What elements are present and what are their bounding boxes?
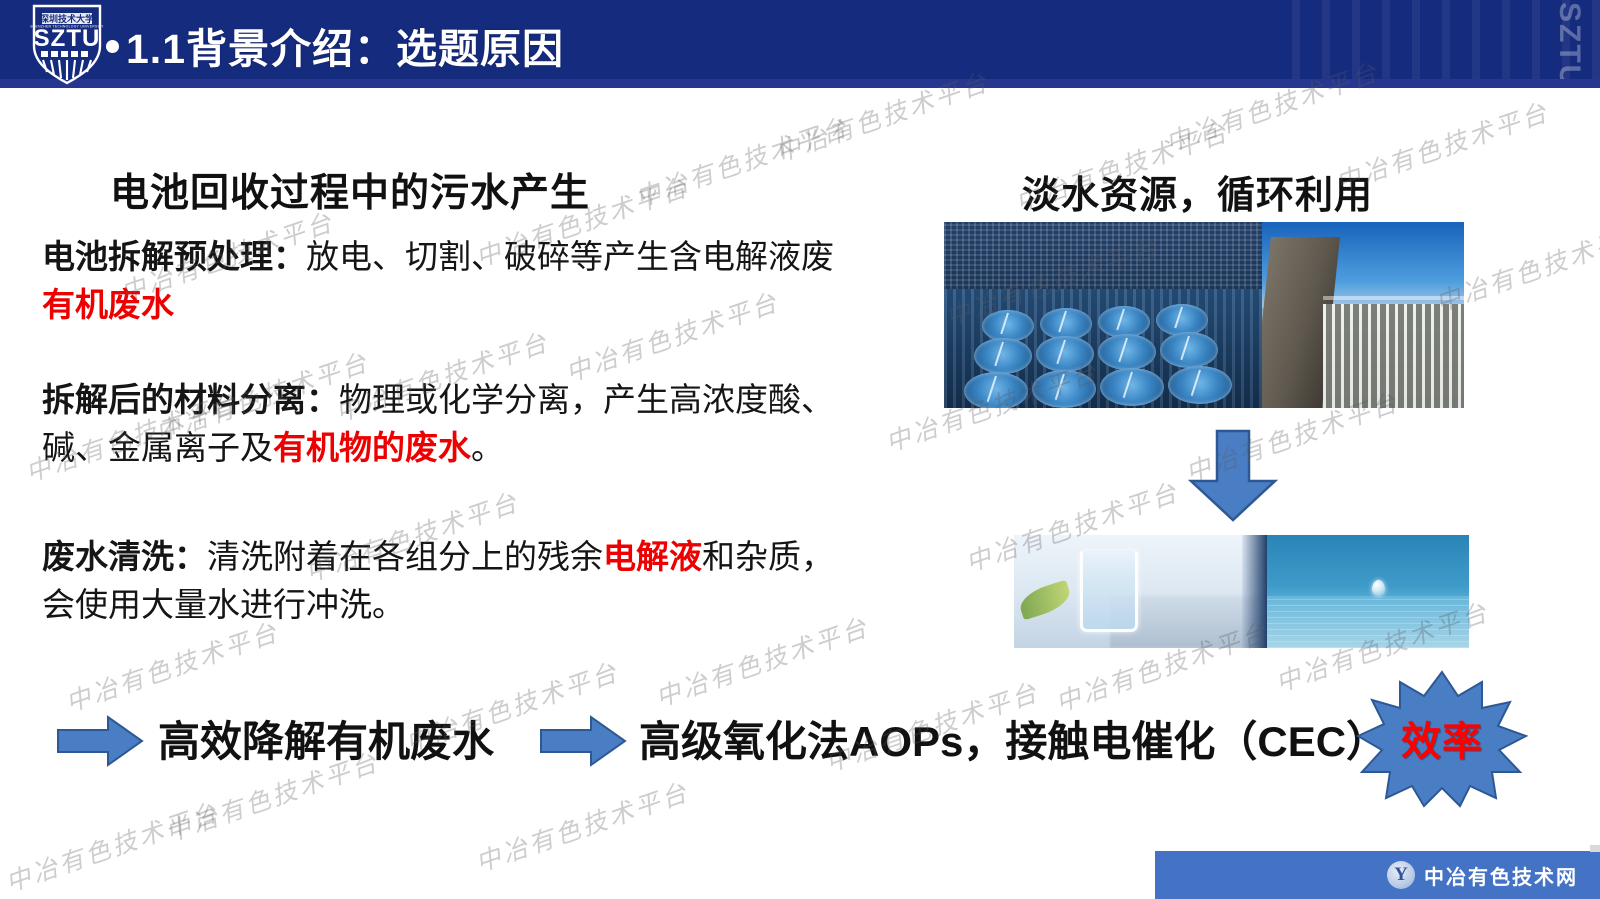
photo-row-top xyxy=(944,222,1464,408)
paragraph-material-separation: 拆解后的材料分离：物理或化学分离，产生高浓度酸、碱、金属离子及有机物的废水。 xyxy=(42,376,862,472)
dam-weir-overflow-photo xyxy=(1262,222,1464,408)
footer-corner-notch xyxy=(1590,845,1600,852)
header-underline xyxy=(0,79,1600,88)
watermark-text: 中冶有色技术平台 xyxy=(630,108,854,215)
paragraph-pretreatment: 电池拆解预处理：放电、切割、破碎等产生含电解液废有机废水 xyxy=(42,233,862,329)
right-arrow-icon xyxy=(56,714,144,768)
photo-row-bottom xyxy=(1014,535,1469,648)
header-sztu-watermark: SZTU xyxy=(1542,2,1584,88)
paragraph-body: 放电、切割、破碎等产生含电解液废 xyxy=(306,238,834,275)
paragraph-lead: 拆解后的材料分离： xyxy=(42,381,339,418)
svg-text:SZTU: SZTU xyxy=(34,25,101,52)
paragraph-body: 清洗附着在各组分上的残余 xyxy=(207,538,603,575)
page-title: 1.1背景介绍：选题原因 xyxy=(126,12,564,78)
paragraph-lead: 电池拆解预处理： xyxy=(42,238,306,275)
right-arrow-icon xyxy=(539,714,627,768)
photo-droplet xyxy=(1372,580,1385,596)
sztu-shield-logo-icon: 深圳技术大学 SHENZHEN TECHNOLOGY UNIVERSITY SZ… xyxy=(28,2,106,86)
wastewater-treatment-plant-aerial-photo xyxy=(944,222,1262,408)
down-arrow-icon xyxy=(1185,427,1281,523)
water-droplet-ripple-photo xyxy=(1267,535,1469,648)
watermark-text: 中冶有色技术平台 xyxy=(0,793,224,899)
photo-water-glass xyxy=(1080,551,1138,632)
slide-header-bar: SZTU 深圳技术大学 SHENZHEN TECHNOLOGY UNIVERSI… xyxy=(0,0,1600,88)
conclusion-flow-row: 高效降解有机废水 高级氧化法AOPs，接触电催化（CEC） xyxy=(42,694,1462,790)
efficiency-badge-label: 效率 xyxy=(1356,668,1528,808)
paragraph-body-tail: 。 xyxy=(471,429,504,466)
globe-y-logo-icon: Y xyxy=(1387,861,1415,889)
paragraph-wastewater-cleaning: 废水清洗：清洗附着在各组分上的残余电解液和杂质，会使用大量水进行冲洗。 xyxy=(42,533,862,629)
paragraph-highlight: 有机废水 xyxy=(42,286,174,323)
photo-edge-shadow xyxy=(1242,535,1267,648)
svg-text:深圳技术大学: 深圳技术大学 xyxy=(40,13,94,24)
flow-step-1-label: 高效降解有机废水 xyxy=(158,702,494,774)
slide-root: SZTU 深圳技术大学 SHENZHEN TECHNOLOGY UNIVERSI… xyxy=(0,0,1600,899)
photo-water-ripple xyxy=(1267,596,1469,648)
photo-waterfall xyxy=(1323,304,1464,408)
flow-step-2-label: 高级氧化法AOPs，接触电催化（CEC） xyxy=(639,702,1388,774)
header-bullet-icon xyxy=(106,40,119,53)
photo-leaf xyxy=(1016,580,1073,621)
photo-railing xyxy=(1323,296,1464,300)
footer-brand-label: 中冶有色技术网 xyxy=(1424,861,1578,890)
paragraph-highlight: 有机物的废水 xyxy=(273,429,471,466)
paragraph-lead: 废水清洗： xyxy=(42,538,207,575)
glass-of-clean-water-photo xyxy=(1014,535,1267,648)
photo-city-background xyxy=(944,222,1262,296)
paragraph-highlight: 电解液 xyxy=(603,538,702,575)
footer-brand-bar: Y 中冶有色技术网 xyxy=(1155,851,1600,899)
right-section-heading: 淡水资源，循环利用 xyxy=(1022,164,1373,219)
left-section-heading: 电池回收过程中的污水产生 xyxy=(110,162,590,218)
